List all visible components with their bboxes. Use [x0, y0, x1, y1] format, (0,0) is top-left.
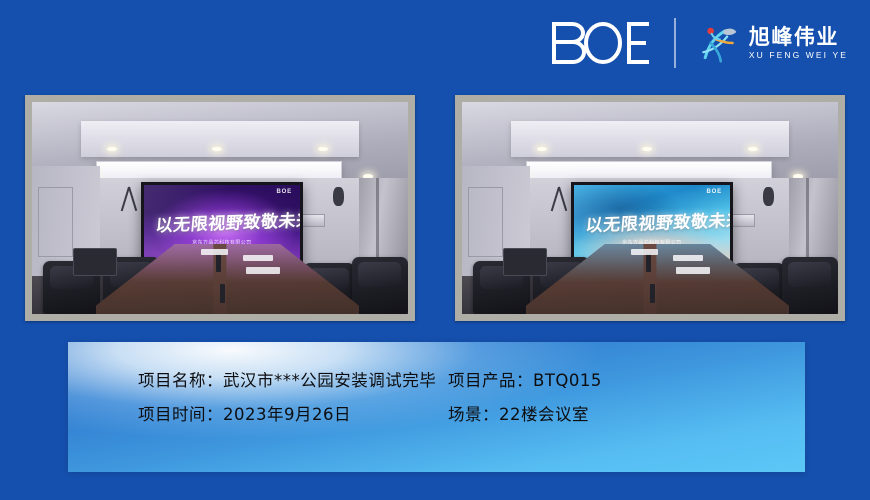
poster-canvas: 旭峰伟业 XU FENG WEI YE	[0, 0, 870, 500]
wall-hook-icon	[118, 187, 137, 212]
desktop-monitor	[73, 248, 116, 275]
wall-speaker	[763, 187, 774, 206]
partner-logo: 旭峰伟业 XU FENG WEI YE	[696, 21, 848, 65]
info-row-project-name: 项目名称： 武汉市***公园安装调试完毕	[138, 367, 448, 401]
info-row-project-product: 项目产品： BTQ015	[448, 367, 602, 401]
scene-value: 22楼会议室	[499, 401, 589, 425]
boe-logo	[550, 21, 654, 65]
partner-name-en: XU FENG WEI YE	[749, 51, 848, 60]
photo-left-image: BOE 以无限视野致敬未来 京东方晶芯科技有限公司	[32, 102, 408, 314]
side-display-panel	[38, 187, 74, 257]
scene-label: 场景：	[448, 401, 499, 425]
downlight-icon	[748, 147, 758, 152]
info-row-scene: 场景： 22楼会议室	[448, 401, 602, 435]
table-paper	[246, 267, 280, 273]
screen-boe-logo: BOE	[707, 189, 722, 195]
wall-hook-icon	[548, 187, 567, 212]
table-paper	[201, 249, 227, 254]
desktop-monitor	[503, 248, 546, 275]
info-grid: 项目名称： 武汉市***公园安装调试完毕 项目时间： 2023年9月26日 项目…	[138, 367, 602, 435]
project-name-value: 武汉市***公园安装调试完毕	[223, 367, 436, 391]
table-microphone	[220, 284, 225, 303]
partner-name-cn: 旭峰伟业	[749, 26, 848, 48]
info-column-left: 项目名称： 武汉市***公园安装调试完毕 项目时间： 2023年9月26日	[138, 367, 448, 435]
boe-logo-letters	[550, 21, 654, 65]
photo-left: BOE 以无限视野致敬未来 京东方晶芯科技有限公司	[25, 95, 415, 321]
screen-calligraphy: 以无限视野致敬未来	[585, 206, 718, 236]
info-row-project-time: 项目时间： 2023年9月26日	[138, 401, 448, 435]
screen-boe-logo: BOE	[277, 189, 292, 195]
project-time-value: 2023年9月26日	[223, 401, 351, 425]
table-paper	[631, 249, 657, 254]
bird-mark-icon	[696, 21, 740, 65]
screen-calligraphy: 以无限视野致敬未来	[155, 206, 288, 236]
table-paper	[673, 255, 703, 261]
project-product-value: BTQ015	[533, 371, 602, 390]
logo-bar: 旭峰伟业 XU FENG WEI YE	[550, 16, 848, 70]
downlight-icon	[537, 147, 547, 152]
table-microphone	[650, 284, 655, 303]
downlight-icon	[107, 147, 117, 152]
logo-divider	[674, 18, 676, 68]
office-chair	[352, 257, 408, 314]
table-paper	[676, 267, 710, 273]
ceiling-coffer	[81, 121, 359, 157]
project-time-label: 项目时间：	[138, 401, 223, 425]
table-microphone	[646, 253, 651, 272]
downlight-icon	[318, 147, 328, 152]
wall-speaker	[333, 187, 344, 206]
project-name-label: 项目名称：	[138, 367, 223, 391]
ceiling-coffer	[511, 121, 789, 157]
office-chair	[782, 257, 838, 314]
side-display-panel	[468, 187, 504, 257]
photo-right-image: BOE 以无限视野致敬未来 京东方晶芯科技有限公司	[462, 102, 838, 314]
table-paper	[243, 255, 273, 261]
info-panel: 项目名称： 武汉市***公园安装调试完毕 项目时间： 2023年9月26日 项目…	[68, 342, 805, 472]
table-microphone	[216, 253, 221, 272]
project-product-label: 项目产品：	[448, 367, 533, 391]
photo-right: BOE 以无限视野致敬未来 京东方晶芯科技有限公司	[455, 95, 845, 321]
info-column-right: 项目产品： BTQ015 场景： 22楼会议室	[448, 367, 602, 435]
